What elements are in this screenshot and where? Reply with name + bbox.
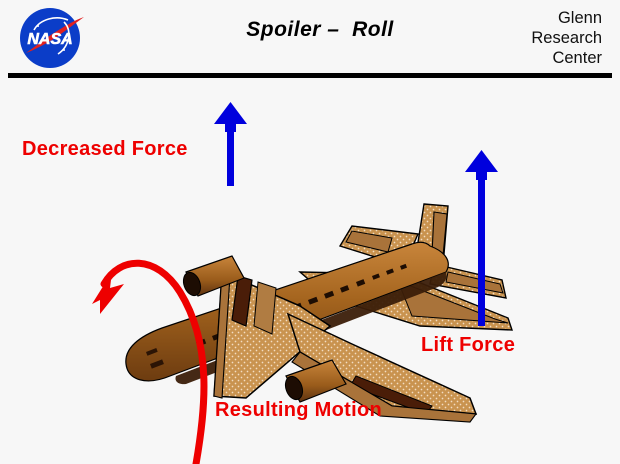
nasa-star-icon (37, 25, 39, 27)
center-name: Glenn Research Center (472, 8, 602, 68)
slide-root: NASA Spoiler – Roll Glenn Research Cente… (0, 0, 620, 464)
lift-force-arrow-head (465, 150, 498, 180)
nasa-logo-svg: NASA (14, 6, 86, 70)
lift-force-arrow-shaft (478, 164, 485, 326)
center-name-line-3: Center (472, 48, 602, 68)
decreased-force-arrow (214, 102, 247, 186)
nasa-logo: NASA (14, 6, 86, 70)
label-resulting-motion: Resulting Motion (215, 399, 382, 422)
nasa-wordmark: NASA (27, 31, 72, 48)
nasa-star-icon-2 (63, 49, 65, 51)
label-decreased-force: Decreased Force (22, 138, 188, 161)
near-wing-aileron (254, 282, 276, 334)
decreased-force-arrow-head (214, 102, 247, 132)
lift-force-arrow (465, 150, 498, 326)
label-lift-force: Lift Force (421, 334, 515, 357)
page-title: Spoiler – Roll (160, 18, 480, 42)
header: NASA Spoiler – Roll Glenn Research Cente… (0, 0, 620, 76)
center-name-line-1: Glenn (472, 8, 602, 28)
center-name-line-2: Research (472, 28, 602, 48)
